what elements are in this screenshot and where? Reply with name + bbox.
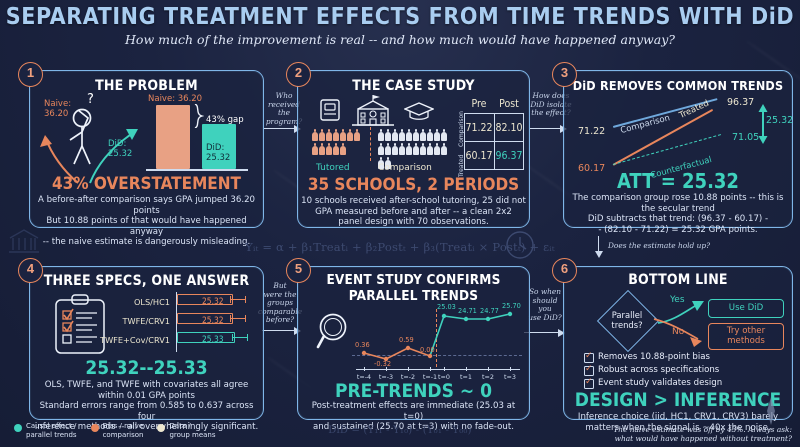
two-by-two-table: Pre Post Comparison Treated 71.22 82.10 … (450, 97, 522, 175)
spec-whisker-cap-1 (230, 315, 231, 322)
panel-number-5: 5 (286, 258, 311, 283)
person-icon (413, 143, 419, 156)
yes-branch-label: Yes (670, 295, 685, 305)
treated-post-value: 96.37 (727, 98, 754, 108)
spec-whisker-cap-2 (232, 334, 233, 341)
person-icon (333, 129, 339, 142)
person-icon (385, 129, 391, 142)
panel-4-headline: 25.32--25.33 (30, 357, 263, 379)
clock-icon (505, 230, 535, 260)
event-value-label-3: 0.00 (420, 346, 435, 354)
panel-2-headline: 35 SCHOOLS, 2 PERIODS (298, 175, 529, 195)
footer-line-2: what would have happened without treatme… (613, 434, 792, 443)
panel-2-title: THE CASE STUDY (298, 78, 529, 94)
person-icon (378, 143, 384, 156)
person-icon (326, 143, 332, 156)
graduation-cap-icon (404, 101, 434, 121)
axis-tick (364, 367, 365, 371)
axis-tick (510, 367, 511, 371)
person-icon (340, 143, 346, 156)
event-study-axis (356, 369, 520, 370)
panel-6-headline: DESIGN > INFERENCE (564, 389, 792, 411)
try-other-methods-box[interactable]: Try other methods (708, 323, 784, 350)
panel-bottom-line: BOTTOM LINE Parallel trends? Yes No Use … (563, 266, 793, 420)
event-value-label-7: 25.70 (502, 302, 521, 310)
person-icon (392, 129, 398, 142)
checkbox-icon (584, 379, 594, 389)
person-icon (420, 129, 426, 142)
tutored-group-label: Tutored (316, 163, 350, 173)
panel-number-2: 2 (286, 62, 311, 87)
panel-three-specs-one-answer: THREE SPECS, ONE ANSWER OLS/HC1 TWFE/CRV… (29, 266, 264, 420)
event-value-label-1: -0.32 (374, 360, 391, 368)
person-icon (319, 129, 325, 142)
person-icon (399, 143, 405, 156)
panel-1-headline: 43% OVERSTATEMENT (30, 174, 263, 194)
person-icon (441, 129, 447, 142)
event-value-label-0: 0.36 (355, 341, 370, 349)
event-value-label-2: 0.59 (399, 336, 414, 344)
spec-whisker-cap-2 (247, 334, 248, 341)
spec-value-1: 25.32 (202, 315, 224, 325)
connector-arrow-1 (264, 128, 300, 129)
footer-line-1: The naive estimate was off by 43%. Alway… (613, 425, 792, 434)
header: SEPARATING TREATMENT EFFECTS FROM TIME T… (0, 4, 800, 47)
checkbox-icon (584, 366, 594, 376)
try-other-methods-line2: methods (727, 337, 765, 347)
panel-number-1: 1 (18, 62, 43, 87)
person-icon (434, 129, 440, 142)
panel-did-removes-common-trends: DiD REMOVES COMMON TRENDS Comparison Tre… (563, 70, 793, 228)
panel-number-4: 4 (18, 258, 43, 283)
comparison-pre-value: 71.22 (578, 127, 605, 137)
panel-3-title: DiD REMOVES COMMON TRENDS (564, 78, 792, 93)
spec-whisker-0 (230, 299, 246, 300)
person-icon (406, 143, 412, 156)
page-subtitle: How much of the improvement is real -- a… (0, 32, 800, 47)
bar-did-value-label: DiD: 25.32 (206, 143, 230, 163)
spec-whisker-cap-1 (245, 315, 246, 322)
spec-label-2: TWFE+Cov/CRV1 (82, 335, 170, 345)
person-icon (354, 129, 360, 142)
person-icon (326, 129, 332, 142)
infographic-root: SEPARATING TREATMENT EFFECTS FROM TIME T… (0, 0, 800, 447)
page-title: SEPARATING TREATMENT EFFECTS FROM TIME T… (0, 4, 800, 30)
bar-baseline (146, 169, 248, 171)
event-value-label-5: 24.71 (458, 307, 477, 315)
check-item-1: Robust across specifications (598, 365, 719, 375)
panel-the-case-study: THE CASE STUDY (297, 70, 530, 228)
person-icon (399, 129, 405, 142)
spec-label-0: OLS/HC1 (90, 297, 170, 307)
person-icon (333, 143, 339, 156)
panel-1-title: THE PROBLEM (30, 78, 263, 94)
book-icon (320, 99, 340, 121)
no-branch-label: No (672, 327, 684, 337)
panel-4-title: THREE SPECS, ONE ANSWER (30, 273, 263, 289)
person-icon (427, 129, 433, 142)
person-icon (434, 143, 440, 156)
person-icon (441, 143, 447, 156)
person-icon (378, 129, 384, 142)
bar-naive (156, 105, 190, 169)
event-value-label-6: 24.77 (480, 307, 499, 315)
connector-were-groups-comparable: But were the groups comparable before? (258, 282, 302, 325)
person-icon (413, 129, 419, 142)
panel-6-title: BOTTOM LINE (564, 272, 792, 288)
table-cell-comparison-post: 82.10 (494, 114, 524, 141)
footer-note: The naive estimate was off by 43%. Alway… (613, 425, 792, 443)
table-cell-treated-post: 96.37 (494, 142, 524, 169)
person-icon (347, 129, 353, 142)
table-cell-comparison-pre: 71.22 (464, 114, 494, 141)
axis-tick (386, 367, 387, 371)
school-icon (350, 93, 396, 127)
check-item-2: Event study validates design (598, 378, 722, 388)
person-icon (392, 143, 398, 156)
connector-arrow-3 (262, 330, 300, 331)
bar-naive-label: Naive: 36.20 (148, 94, 202, 104)
spec-value-2: 25.33 (202, 334, 224, 344)
spec-whisker-2 (232, 337, 248, 338)
person-icon (312, 143, 318, 156)
axis-tick (430, 367, 431, 371)
panel-5-headline: PRE-TRENDS ~ 0 (298, 380, 529, 402)
axis-tick (488, 367, 489, 371)
person-icon (420, 143, 426, 156)
panel-3-headline: ATT = 25.32 (564, 169, 792, 193)
axis-tick (444, 367, 445, 371)
panel-event-study: EVENT STUDY CONFIRMS PARALLEL TRENDS (297, 266, 530, 420)
att-gap-value: 25.32 (766, 116, 793, 126)
connector-does-estimate-hold-up: Does the estimate hold up? (608, 242, 778, 251)
person-icon (385, 143, 391, 156)
panel-number-6: 6 (552, 258, 577, 283)
gap-label: 43% gap (206, 115, 244, 125)
spec-whisker-cap-0 (245, 296, 246, 303)
comparison-group-label: Comparison (378, 163, 432, 173)
table-cell-treated-pre: 60.17 (464, 142, 494, 169)
spec-whisker-cap-0 (230, 296, 231, 303)
gap-brace-icon (192, 104, 204, 128)
person-icon (319, 143, 325, 156)
person-icon (406, 129, 412, 142)
person-icon (340, 129, 346, 142)
person-icon (312, 129, 318, 142)
panel-number-3: 3 (552, 62, 577, 87)
group-divider (370, 127, 371, 161)
panel-5-title-line2: PARALLEL TRENDS (298, 288, 529, 304)
connector-arrow-2 (530, 128, 566, 129)
check-item-0: Removes 10.88-point bias (598, 352, 710, 362)
use-did-box[interactable]: Use DiD (708, 299, 784, 318)
event-study-chart: 0.36 -0.32 0.59 0.00 25.03 24.71 24.77 2… (352, 305, 522, 367)
decision-question: Parallel trends? (597, 310, 657, 330)
table-col-header-pre: Pre (464, 97, 494, 111)
treated-people-group (312, 129, 364, 156)
table-col-header-post: Post (494, 97, 524, 111)
sparkle-icon (760, 397, 782, 425)
connector-arrow-5 (598, 236, 599, 252)
person-icon (427, 143, 433, 156)
bank-icon (8, 228, 40, 254)
panel-5-title-line1: EVENT STUDY CONFIRMS (298, 272, 529, 288)
panel-the-problem: THE PROBLEM Naive: 36.20 DiD: 25.32 ? (29, 70, 264, 228)
panel-3-body: The comparison group rose 10.88 points -… (567, 193, 789, 235)
spec-whisker-1 (230, 318, 246, 319)
checkbox-icon (584, 353, 594, 363)
connector-arrow-4 (524, 332, 564, 333)
axis-tick (408, 367, 409, 371)
spec-value-0: 25.32 (202, 296, 224, 306)
counterfactual-post-value: 71.05 (732, 133, 759, 143)
axis-tick (466, 367, 467, 371)
panel-2-body: 10 schools received after-school tutorin… (301, 196, 526, 228)
spec-label-1: TWFE/CRV1 (90, 316, 170, 326)
event-value-label-4: 25.03 (437, 303, 456, 311)
